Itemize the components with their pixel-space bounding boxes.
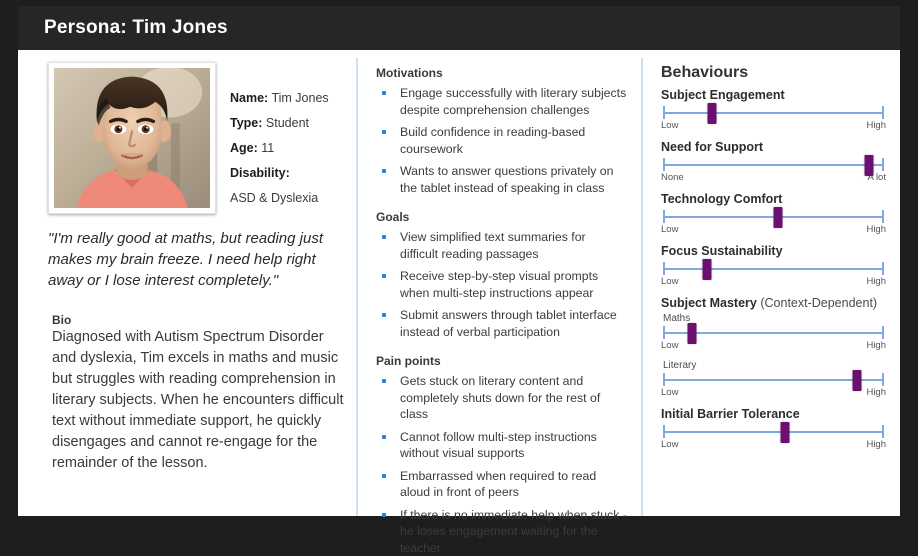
detail-row: Age: 11 — [230, 136, 329, 161]
slider-block: Technology ComfortLowHigh — [661, 192, 886, 235]
slider-track[interactable] — [663, 157, 884, 173]
slider-marker[interactable] — [687, 323, 696, 344]
slider-line — [663, 431, 884, 433]
slider-line — [663, 379, 884, 381]
slider-cap-right — [882, 210, 884, 223]
slider-label: Need for Support — [661, 140, 886, 154]
slider-label: Subject Mastery (Context-Dependent) — [661, 296, 886, 310]
section-title: Pain points — [376, 354, 627, 368]
slider-track[interactable] — [663, 325, 884, 341]
slider-label: Focus Sustainability — [661, 244, 886, 258]
slider-cap-right — [882, 158, 884, 171]
slider-line — [663, 268, 884, 270]
slider-block: Focus SustainabilityLowHigh — [661, 244, 886, 287]
slider-marker[interactable] — [707, 103, 716, 124]
slider-cap-left — [663, 326, 665, 339]
list-item: Build confidence in reading-based course… — [376, 124, 627, 157]
slider-block: Initial Barrier ToleranceLowHigh — [661, 407, 886, 450]
slider-low-label: Low — [661, 276, 678, 287]
slider-cap-left — [663, 106, 665, 119]
detail-value: ASD & Dyslexia — [230, 191, 318, 205]
list-item: View simplified text summaries for diffi… — [376, 229, 627, 262]
section-title: Motivations — [376, 66, 627, 80]
slider-block: Subject Mastery (Context-Dependent)Maths… — [661, 296, 886, 351]
section-pain-points: Pain points Gets stuck on literary conte… — [376, 354, 627, 556]
slider-label: Subject Engagement — [661, 88, 886, 102]
slider-low-label: None — [661, 172, 684, 183]
slider-marker[interactable] — [773, 207, 782, 228]
slider-cap-left — [663, 262, 665, 275]
detail-label: Type: — [230, 116, 262, 130]
portrait-photo-icon — [54, 68, 210, 208]
behaviours-column: Behaviours Subject EngagementLowHighNeed… — [641, 58, 900, 516]
slider-track[interactable] — [663, 209, 884, 225]
slider-track[interactable] — [663, 105, 884, 121]
detail-row: Type: Student — [230, 111, 329, 136]
slider-track[interactable] — [663, 372, 884, 388]
slider-marker[interactable] — [864, 155, 873, 176]
list-item: Embarrassed when required to read aloud … — [376, 468, 627, 501]
detail-label: Age: — [230, 141, 258, 155]
profile-details: Name: Tim Jones Type: Student Age: 11 Di… — [216, 62, 329, 214]
list-item: Cannot follow multi-step instructions wi… — [376, 429, 627, 462]
detail-row: ASD & Dyslexia — [230, 186, 329, 211]
detail-value: Student — [266, 116, 309, 130]
slider-cap-left — [663, 210, 665, 223]
pain-points-list: Gets stuck on literary content and compl… — [376, 373, 627, 556]
section-motivations: Motivations Engage successfully with lit… — [376, 66, 627, 196]
goals-list: View simplified text summaries for diffi… — [376, 229, 627, 340]
slider-high-label: High — [866, 224, 886, 235]
slider-end-labels: LowHigh — [661, 439, 886, 450]
slider-low-label: Low — [661, 340, 678, 351]
slider-low-label: Low — [661, 439, 678, 450]
slider-high-label: High — [866, 120, 886, 131]
avatar-frame — [48, 62, 216, 214]
slider-cap-left — [663, 158, 665, 171]
detail-value: Tim Jones — [271, 91, 328, 105]
slider-cap-right — [882, 326, 884, 339]
detail-row: Disability: — [230, 161, 329, 186]
slider-marker[interactable] — [853, 370, 862, 391]
slider-track[interactable] — [663, 424, 884, 440]
list-item: Wants to answer questions privately on t… — [376, 163, 627, 196]
slider-cap-right — [882, 262, 884, 275]
slider-block: Need for SupportNoneA lot — [661, 140, 886, 183]
behaviour-sliders: Subject EngagementLowHighNeed for Suppor… — [661, 88, 886, 450]
slider-track[interactable] — [663, 261, 884, 277]
list-item: If there is no immediate help when stuck… — [376, 507, 627, 556]
slider-end-labels: LowHigh — [661, 120, 886, 131]
bio-title: Bio — [48, 313, 344, 327]
slider-end-labels: LowHigh — [661, 276, 886, 287]
slider-low-label: Low — [661, 224, 678, 235]
section-title: Goals — [376, 210, 627, 224]
slider-high-label: High — [866, 387, 886, 398]
slider-cap-left — [663, 373, 665, 386]
page-title: Persona: Tim Jones — [44, 17, 228, 39]
slider-label: Technology Comfort — [661, 192, 886, 206]
slider-high-label: High — [866, 276, 886, 287]
section-goals: Goals View simplified text summaries for… — [376, 210, 627, 340]
list-item: Gets stuck on literary content and compl… — [376, 373, 627, 423]
motivations-list: Engage successfully with literary subjec… — [376, 85, 627, 196]
list-item: Receive step-by-step visual prompts when… — [376, 268, 627, 301]
persona-card: Persona: Tim Jones — [18, 6, 900, 516]
slider-cap-left — [663, 425, 665, 438]
card-body: Name: Tim Jones Type: Student Age: 11 Di… — [18, 50, 900, 516]
slider-line — [663, 164, 884, 166]
slider-cap-right — [882, 425, 884, 438]
profile-column: Name: Tim Jones Type: Student Age: 11 Di… — [18, 58, 356, 516]
slider-low-label: Low — [661, 120, 678, 131]
detail-label: Name: — [230, 91, 268, 105]
slider-cap-right — [882, 106, 884, 119]
slider-label-suffix: (Context-Dependent) — [757, 296, 877, 310]
avatar — [54, 68, 210, 208]
slider-end-labels: NoneA lot — [661, 172, 886, 183]
slider-high-label: High — [866, 439, 886, 450]
slider-label: Initial Barrier Tolerance — [661, 407, 886, 421]
detail-label: Disability: — [230, 166, 290, 180]
list-item: Submit answers through tablet interface … — [376, 307, 627, 340]
slider-cap-right — [882, 373, 884, 386]
slider-line — [663, 112, 884, 114]
slider-marker[interactable] — [703, 259, 712, 280]
card-header: Persona: Tim Jones — [18, 6, 900, 50]
slider-high-label: High — [866, 340, 886, 351]
slider-block: LiteraryLowHigh — [661, 360, 886, 398]
bio-text: Diagnosed with Autism Spectrum Disorder … — [48, 327, 344, 474]
profile-top-row: Name: Tim Jones Type: Student Age: 11 Di… — [48, 62, 344, 214]
detail-value: 11 — [261, 141, 274, 155]
slider-low-label: Low — [661, 387, 678, 398]
persona-quote: "I'm really good at maths, but reading j… — [48, 228, 344, 291]
detail-row: Name: Tim Jones — [230, 86, 329, 111]
behaviours-title: Behaviours — [661, 64, 886, 82]
slider-block: Subject EngagementLowHigh — [661, 88, 886, 131]
sections-column: Motivations Engage successfully with lit… — [356, 58, 641, 516]
slider-marker[interactable] — [780, 422, 789, 443]
list-item: Engage successfully with literary subjec… — [376, 85, 627, 118]
